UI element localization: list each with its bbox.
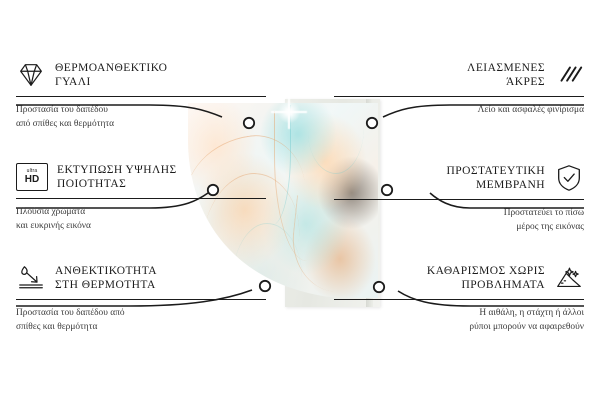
feature-title-line2: ΜΕΜΒΡΑΝΗ xyxy=(446,178,545,192)
feature-divider xyxy=(16,96,266,97)
feature-desc-line1: Η αιθάλη, η στάχτη ή άλλοι xyxy=(334,307,584,321)
feature-title-line2: ΣΤΗ ΘΕΡΜΟΤΗΤΑ xyxy=(55,278,157,292)
ultra-hd-icon: ultra HD xyxy=(16,163,48,191)
heat-resistance-icon xyxy=(16,263,46,293)
feature-title-line1: ΛΕΙΑΣΜΕΝΕΣ xyxy=(467,61,545,75)
feature-heat-resistant-glass: ΘΕΡΜΟΑΝΘΕΚΤΙΚΟ ΓΥΑΛΙ Προστασία του δαπέδ… xyxy=(16,60,266,132)
feature-desc-line2: σπίθες και θερμότητα xyxy=(16,321,266,335)
feature-high-quality-print: ultra HD ΕΚΤΥΠΩΣΗ ΥΨΗΛΗΣ ΠΟΙΟΤΗΤΑΣ Πλούσ… xyxy=(16,163,266,233)
feature-title-line1: ΘΕΡΜΟΑΝΘΕΚΤΙΚΟ xyxy=(55,61,167,75)
feature-desc-line2: από σπίθες και θερμότητα xyxy=(16,118,266,132)
feature-polished-edges: ΛΕΙΑΣΜΕΝΕΣ ΆΚΡΕΣ Λείο και ασφαλές φινίρι… xyxy=(334,60,584,118)
connector-dot-right-1 xyxy=(367,118,377,128)
feature-title-line1: ΑΝΘΕΚΤΙΚΟΤΗΤΑ xyxy=(55,264,157,278)
easy-cleaning-icon xyxy=(554,263,584,293)
diamond-icon xyxy=(16,60,46,90)
feature-divider xyxy=(16,299,266,300)
feature-easy-cleaning: ΚΑΘΑΡΙΣΜΟΣ ΧΩΡΙΣ ΠΡΟΒΛΗΜΑΤΑ Η αιθάλη, η … xyxy=(334,263,584,335)
feature-desc-line1: Πλούσια χρώματα xyxy=(16,206,266,220)
feature-title-line2: ΠΟΙΟΤΗΤΑΣ xyxy=(57,177,177,191)
feature-desc-line1: Προστατεύει το πίσω xyxy=(334,207,584,221)
feature-heat-durability: ΑΝΘΕΚΤΙΚΟΤΗΤΑ ΣΤΗ ΘΕΡΜΟΤΗΤΑ Προστασία το… xyxy=(16,263,266,335)
feature-desc-line2: μέρος της εικόνας xyxy=(334,221,584,235)
feature-desc-line1: Λείο και ασφαλές φινίρισμα xyxy=(334,104,584,118)
polished-edges-icon xyxy=(554,60,584,90)
feature-divider xyxy=(334,199,584,200)
feature-title-line1: ΕΚΤΥΠΩΣΗ ΥΨΗΛΗΣ xyxy=(57,163,177,177)
ultra-hd-icon-bottom: HD xyxy=(25,175,39,185)
feature-title-line2: ΆΚΡΕΣ xyxy=(467,75,545,89)
feature-title-line1: ΠΡΟΣΤΑΤΕΥΤΙΚΗ xyxy=(446,164,545,178)
feature-protective-membrane: ΠΡΟΣΤΑΤΕΥΤΙΚΗ ΜΕΜΒΡΑΝΗ Προστατεύει το πί… xyxy=(334,163,584,235)
infographic-stage: ΘΕΡΜΟΑΝΘΕΚΤΙΚΟ ΓΥΑΛΙ Προστασία του δαπέδ… xyxy=(0,0,600,400)
feature-title-line1: ΚΑΘΑΡΙΣΜΟΣ ΧΩΡΙΣ xyxy=(427,264,545,278)
feature-desc-line1: Προστασία του δαπέδου xyxy=(16,104,266,118)
feature-desc-line1: Προστασία του δαπέδου από xyxy=(16,307,266,321)
feature-divider xyxy=(334,96,584,97)
feature-title-line2: ΠΡΟΒΛΗΜΑΤΑ xyxy=(427,278,545,292)
feature-divider xyxy=(334,299,584,300)
feature-desc-line2: ρύποι μπορούν να αφαιρεθούν xyxy=(334,321,584,335)
feature-divider xyxy=(16,198,266,199)
feature-desc-line2: και ευκρινής εικόνα xyxy=(16,220,266,234)
shield-check-icon xyxy=(554,163,584,193)
feature-title-line2: ΓΥΑΛΙ xyxy=(55,75,167,89)
